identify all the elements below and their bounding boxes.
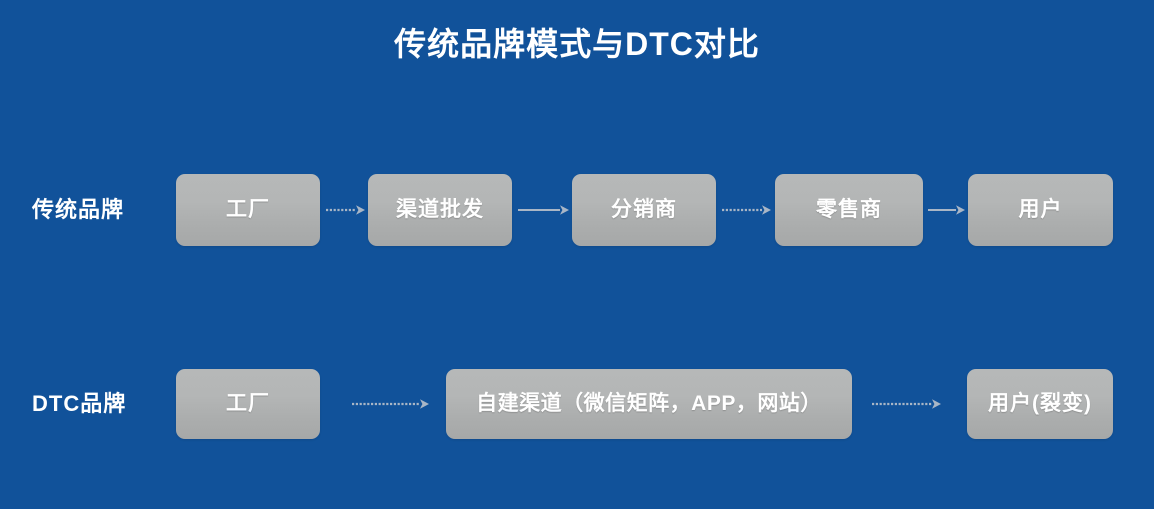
- flow-box-label: 工厂: [226, 196, 270, 224]
- flow-arrow-solid-2: [928, 202, 966, 218]
- flow-box-label: 用户: [1019, 196, 1063, 224]
- flow-box-label: 工厂: [226, 390, 270, 418]
- flow-box-label: 分销商: [611, 196, 677, 224]
- flow-arrow-dotted-4: [872, 396, 942, 412]
- flow-box-label: 用户(裂变): [988, 390, 1092, 418]
- flow-box-owned-channels[interactable]: 自建渠道（微信矩阵，APP，网站）: [446, 369, 852, 439]
- flow-box-factory-dtc[interactable]: 工厂: [176, 369, 320, 439]
- slide-canvas: 传统品牌模式与DTC对比 传统品牌 工厂 渠道批发 分销商 零售商: [0, 0, 1154, 509]
- flow-box-retailer[interactable]: 零售商: [775, 174, 923, 246]
- flow-arrow-solid-1: [518, 202, 570, 218]
- flow-box-factory-traditional[interactable]: 工厂: [176, 174, 320, 246]
- page-title: 传统品牌模式与DTC对比: [0, 22, 1154, 66]
- flow-box-user-fission[interactable]: 用户(裂变): [967, 369, 1113, 439]
- row-label-dtc-brand: DTC品牌: [32, 389, 126, 419]
- flow-box-label: 渠道批发: [396, 196, 484, 224]
- flow-box-channel-wholesale[interactable]: 渠道批发: [368, 174, 512, 246]
- flow-arrow-dotted-1: [326, 202, 366, 218]
- flow-box-distributor[interactable]: 分销商: [572, 174, 716, 246]
- flow-box-label: 零售商: [816, 196, 882, 224]
- flow-arrow-dotted-3: [352, 396, 430, 412]
- flow-box-user-traditional[interactable]: 用户: [968, 174, 1113, 246]
- row-label-traditional-brand: 传统品牌: [32, 195, 124, 225]
- flow-arrow-dotted-2: [722, 202, 772, 218]
- flow-box-label: 自建渠道（微信矩阵，APP，网站）: [476, 390, 822, 418]
